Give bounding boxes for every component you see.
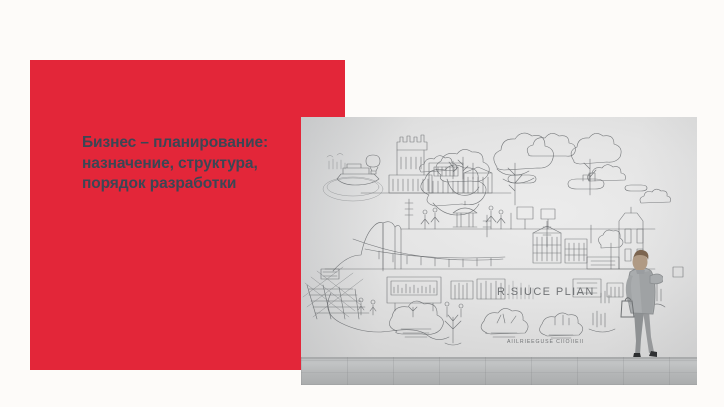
wall-text-main: R.SIUCE PLIAN	[497, 286, 595, 298]
red-accent-block	[30, 60, 345, 370]
page-title: Бизнес – планирование: назначение, струк…	[82, 133, 300, 195]
wall-text-sub: AIILRIEEGUSE CIIOIIEII	[507, 339, 584, 345]
businessman-figure	[617, 245, 663, 362]
presentation-slide: Бизнес – планирование: назначение, струк…	[0, 0, 724, 407]
wall-sketch-photo: R.SIUCE PLIAN AIILRIEEGUSE CIIOIIEII	[301, 117, 697, 385]
floor-tile-pattern	[301, 357, 697, 385]
photo-floor	[301, 357, 697, 385]
